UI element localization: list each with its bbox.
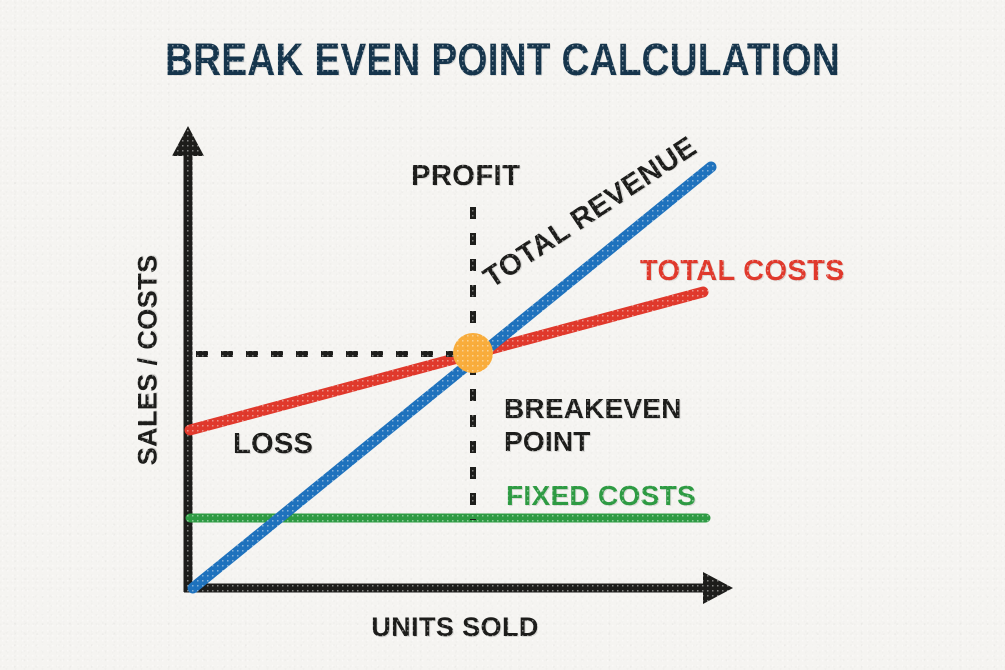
series-line-total-revenue — [193, 167, 711, 588]
breakeven-point-marker — [453, 333, 493, 373]
annotation-breakeven-line1: BREAKEVEN — [504, 392, 682, 425]
annotation-breakeven-point: BREAKEVEN POINT — [504, 392, 682, 458]
breakeven-chart-figure: BREAK EVEN POINT CALCULATION PROFIT TOTA… — [0, 0, 1005, 670]
x-axis-label: UNITS SOLD — [371, 612, 539, 643]
series-label-fixed-costs: FIXED COSTS — [506, 480, 696, 512]
annotation-breakeven-line2: POINT — [504, 425, 682, 458]
y-axis-label: SALES / COSTS — [133, 255, 164, 466]
annotation-profit: PROFIT — [411, 160, 520, 193]
x-axis — [184, 572, 733, 604]
series-label-total-costs: TOTAL COSTS — [640, 255, 845, 288]
annotation-loss: LOSS — [233, 428, 313, 461]
